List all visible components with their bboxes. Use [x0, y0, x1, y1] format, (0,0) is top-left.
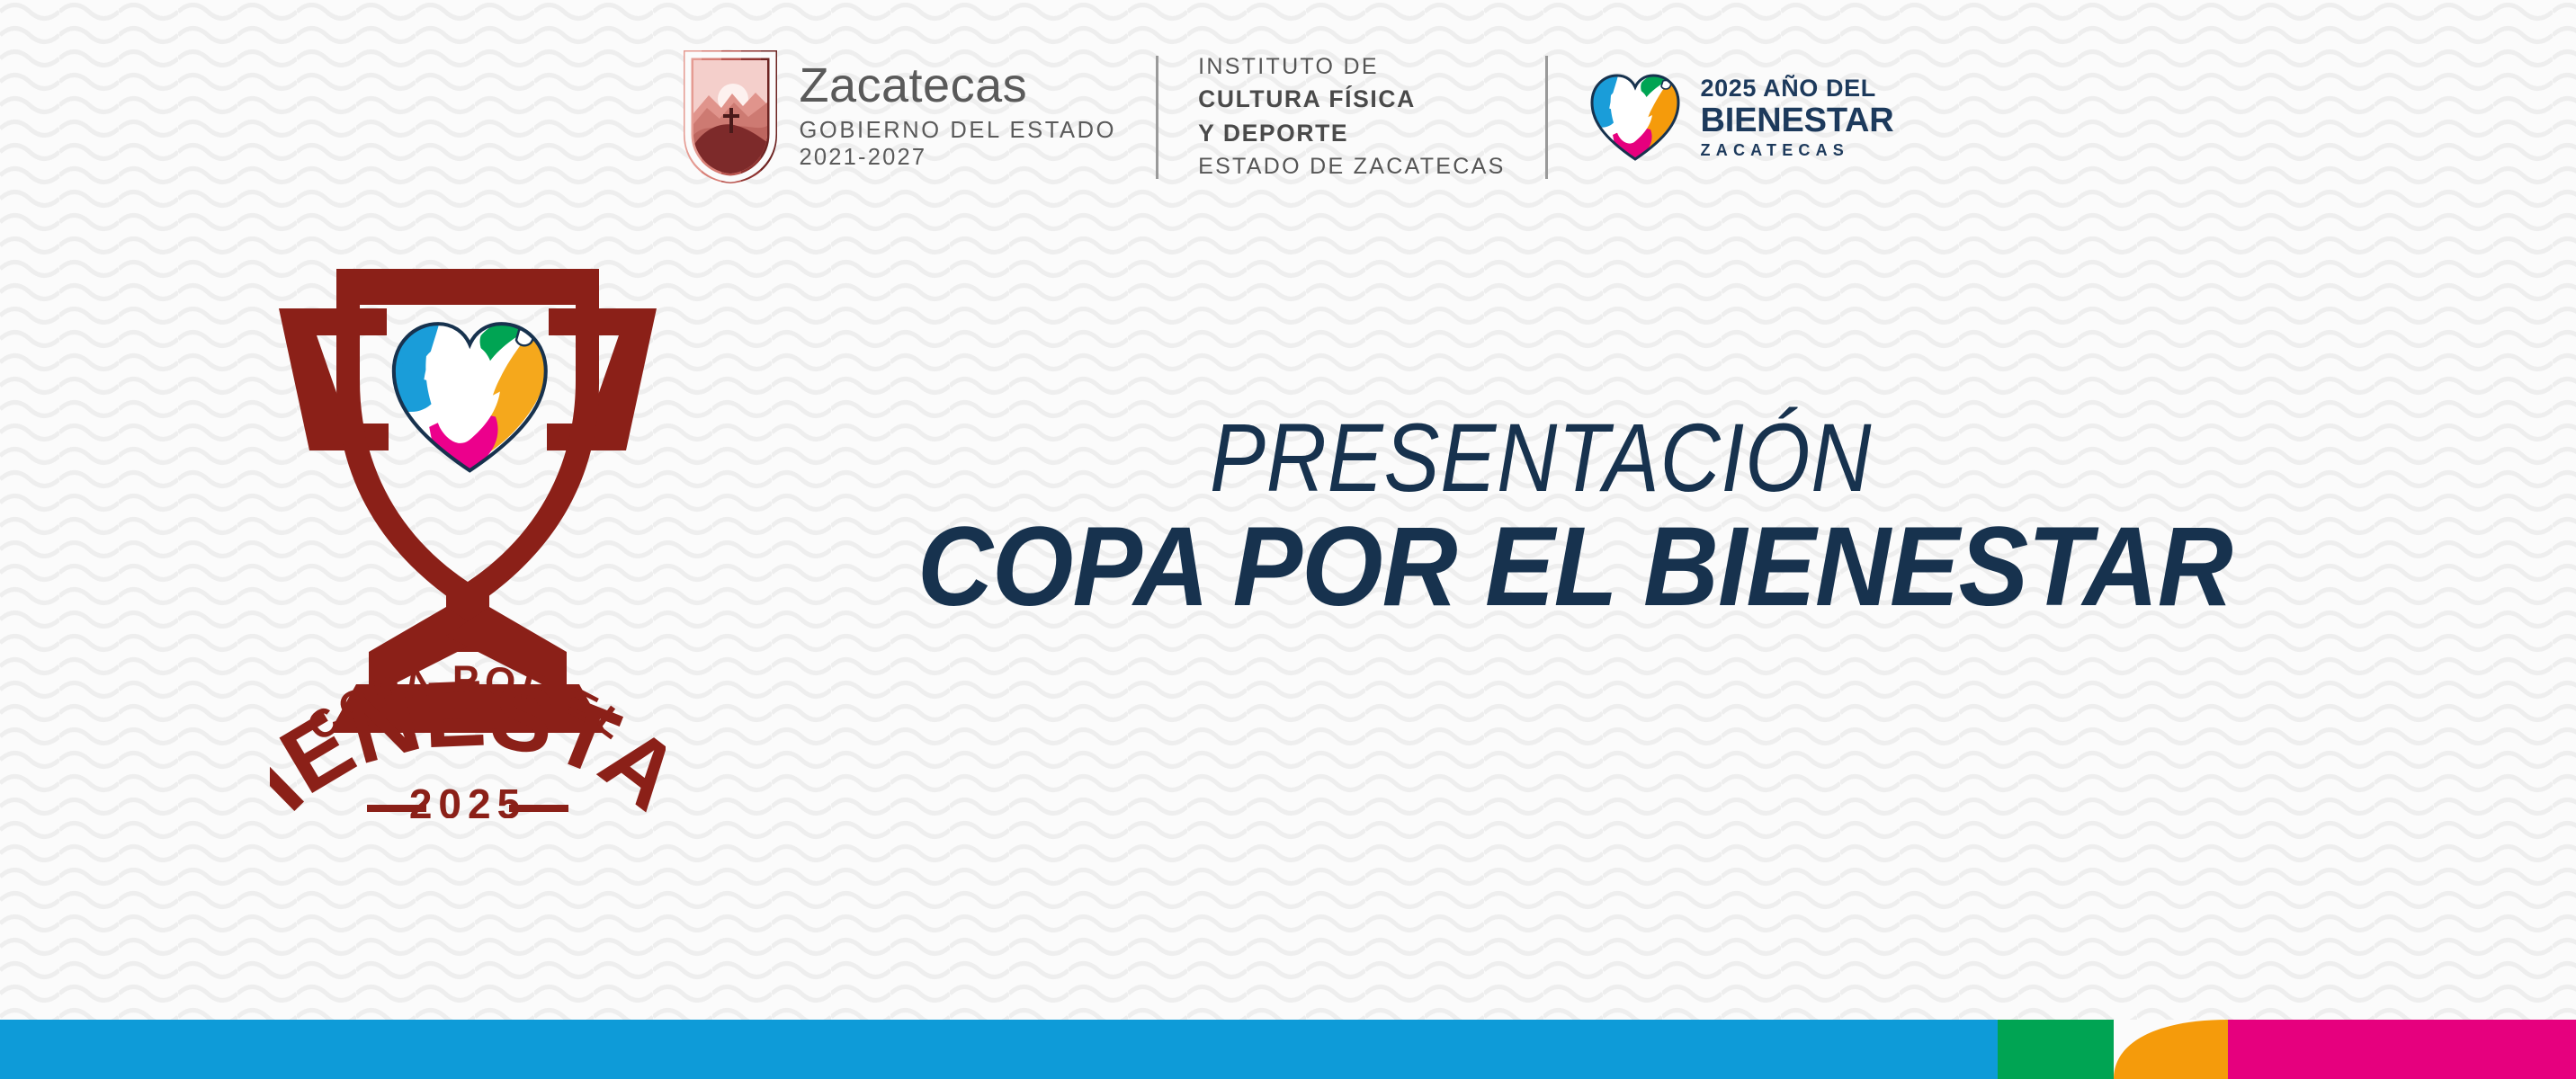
bottom-bar-segment-magenta	[2228, 1020, 2576, 1079]
copa-trophy-heart-icon: COPA POR EL BIENESTAR 2025	[270, 229, 666, 818]
institute-line-1: INSTITUTO DE	[1198, 51, 1505, 84]
header-divider-1	[1156, 56, 1158, 179]
government-logo-subtitle-2: 2021-2027	[799, 144, 1116, 173]
government-logo: Zacatecas GOBIERNO DEL ESTADO 2021-2027	[682, 49, 1116, 185]
bienestar-heart-dove-icon	[1588, 70, 1683, 164]
government-logo-subtitle-1: GOBIERNO DEL ESTADO	[799, 118, 1116, 144]
main-title-block: PRESENTACIÓN COPA POR EL BIENESTAR	[908, 409, 2348, 688]
institute-line-3: Y DEPORTE	[1198, 117, 1505, 151]
bienestar-line-2: BIENESTAR	[1701, 103, 1894, 138]
institute-line-4: ESTADO DE ZACATECAS	[1198, 151, 1505, 183]
government-logo-name: Zacatecas	[799, 61, 1116, 110]
bienestar-line-3: ZACATECAS	[1701, 142, 1894, 158]
header-logo-bar: Zacatecas GOBIERNO DEL ESTADO 2021-2027 …	[0, 0, 2576, 234]
institute-logo: INSTITUTO DE CULTURA FÍSICA Y DEPORTE ES…	[1198, 51, 1505, 183]
bienestar-logo: 2025 AÑO DEL BIENESTAR ZACATECAS	[1588, 70, 1894, 164]
page-title-copa-por-el-bienestar: COPA POR EL BIENESTAR	[917, 511, 2232, 623]
page-title-presentacion: PRESENTACIÓN	[1210, 409, 1872, 506]
header-divider-2	[1545, 56, 1548, 179]
zacatecas-shield-icon	[682, 49, 779, 185]
bottom-bar-segment-blue	[0, 1020, 1998, 1079]
institute-line-2: CULTURA FÍSICA	[1198, 83, 1505, 117]
copa-logo-year-row: 2025	[367, 780, 568, 818]
bottom-color-bar	[0, 1020, 2576, 1079]
bienestar-line-1: 2025 AÑO DEL	[1701, 76, 1894, 102]
copa-logo-line-3: 2025	[409, 780, 526, 818]
